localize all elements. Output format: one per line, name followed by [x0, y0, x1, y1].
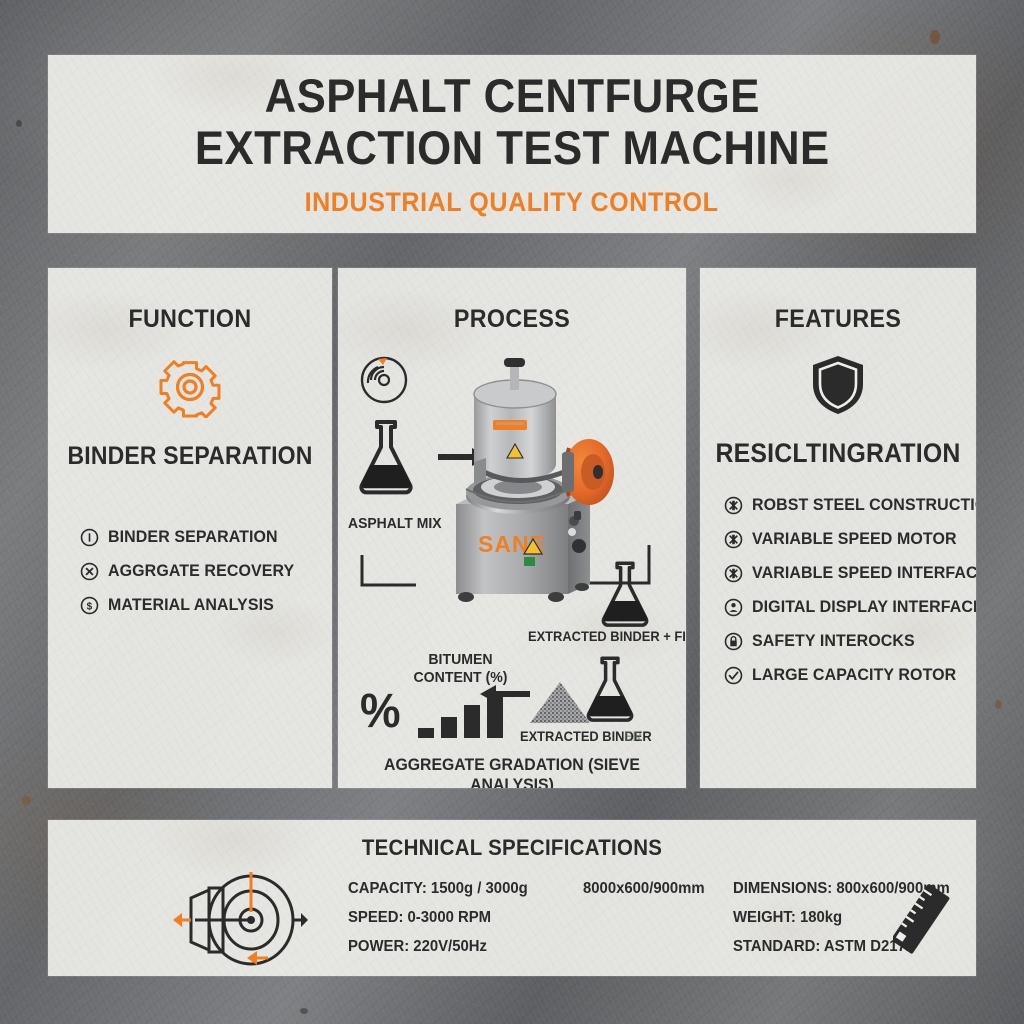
circle-x-icon	[80, 562, 99, 581]
circle-gauge-icon	[724, 598, 743, 617]
list-item[interactable]: BINDER SEPARATION	[80, 527, 332, 547]
list-item[interactable]: VARIABLE SPEED MOTOR	[724, 529, 976, 549]
bg-speck	[22, 796, 31, 805]
list-item[interactable]: VARIABLE SPEED INTERFACE	[724, 563, 976, 583]
spec-speed: SPEED: 0-3000 RPM	[348, 903, 528, 932]
circle-bolt-icon	[724, 496, 743, 515]
function-panel: FUNCTION BINDER SEPARATION BINDER SEPARA…	[48, 268, 332, 788]
shield-icon-wrap	[700, 354, 976, 416]
features-subheading: RESICLTINGRATION	[711, 438, 965, 469]
centrifuge-spin-icon	[356, 350, 412, 406]
rotor-diagram-icon	[173, 868, 308, 973]
aggregate-pile-icon	[528, 680, 592, 726]
chart-bar	[418, 728, 434, 738]
chart-heading-line2: CONTENT (%)	[414, 669, 508, 686]
chart-heading-line1: BITUMEN	[428, 651, 492, 668]
extracted-bitumen-ghost-text: ER	[624, 728, 642, 744]
list-item[interactable]: AGGRGATE RECOVERY	[80, 561, 332, 581]
list-item-label: DIGITAL DISPLAY INTERFACE	[752, 597, 976, 617]
technical-specifications-panel: TECHNICAL SPECIFICATIONS CAPACITY:	[48, 820, 976, 976]
spec-title: TECHNICAL SPECIFICATIONS	[80, 835, 943, 861]
list-item-label: ROBST STEEL CONSTRUCTION	[752, 495, 976, 515]
list-item[interactable]: ROBST STEEL CONSTRUCTION	[724, 495, 976, 515]
list-item-label: AGGRGATE RECOVERY	[108, 561, 294, 581]
circle-check-icon	[724, 666, 743, 685]
circle-bolt-icon	[724, 564, 743, 583]
page-title-line2: EXTRACTION TEST MACHINE	[195, 122, 830, 174]
gear-icon-wrap	[48, 356, 332, 418]
list-item-label: LARGE CAPACITY ROTOR	[752, 665, 956, 685]
process-heading: PROCESS	[350, 305, 674, 334]
extracted-bitumen-label: EXTRACTED BINDERER	[520, 728, 642, 744]
chart-bar	[464, 705, 480, 738]
circle-lock-icon	[724, 632, 743, 651]
list-item-label: VARIABLE SPEED INTERFACE	[752, 563, 976, 583]
list-item[interactable]: DIGITAL DISPLAY INTERFACE	[724, 597, 976, 617]
spec-column-1: CAPACITY: 1500g / 3000g SPEED: 0-3000 RP…	[348, 874, 541, 961]
ruler-icon	[893, 884, 951, 956]
svg-text:$: $	[87, 601, 93, 612]
aggregate-gradation-label: AGGREGATE GRADATION (SIEVE ANALYSIS)	[350, 755, 674, 788]
circle-info-icon	[80, 528, 99, 547]
function-item-list: BINDER SEPARATION AGGRGATE RECOVERY $ MA…	[80, 527, 332, 615]
process-panel: PROCESS ASPHALT MIX	[338, 268, 686, 788]
header-panel: ASPHALT CENTFURGE EXTRACTION TEST MACHIN…	[48, 55, 976, 233]
chart-bar	[441, 717, 457, 738]
list-item[interactable]: SAFETY INTEROCKS	[724, 631, 976, 651]
bg-speck	[300, 1008, 308, 1014]
function-subheading: BINDER SEPARATION	[59, 442, 320, 471]
circle-bolt-icon	[724, 530, 743, 549]
list-item-label: SAFETY INTEROCKS	[752, 631, 915, 651]
page-subtitle: INDUSTRIAL QUALITY CONTROL	[305, 187, 719, 218]
list-item-label: MATERIAL ANALYSIS	[108, 595, 274, 615]
spec-power: POWER: 220V/50Hz	[348, 932, 528, 961]
spec-dimension-alt: 8000x600/900mm	[583, 874, 705, 903]
flask-icon	[593, 558, 657, 630]
page-title-line1: ASPHALT CENTFURGE	[264, 70, 759, 122]
function-heading: FUNCTION	[58, 305, 322, 334]
list-item[interactable]: $ MATERIAL ANALYSIS	[80, 595, 332, 615]
list-item-label: BINDER SEPARATION	[108, 527, 278, 547]
features-heading: FEATURES	[710, 305, 967, 334]
list-item-label: VARIABLE SPEED MOTOR	[752, 529, 957, 549]
asphalt-mix-label: ASPHALT MIX	[348, 515, 442, 532]
circle-dollar-icon: $	[80, 596, 99, 615]
features-item-list: ROBST STEEL CONSTRUCTION VARIABLE SPEED …	[724, 495, 976, 685]
bg-speck	[930, 30, 940, 44]
chart-bar	[487, 693, 503, 738]
gear-icon	[159, 356, 221, 418]
flask-icon	[350, 416, 422, 498]
bitumen-bar-chart	[418, 686, 503, 738]
bitumen-chart-heading: BITUMEN CONTENT (%)	[397, 651, 524, 687]
spec-column-2: 8000x600/900mm	[583, 874, 714, 903]
extracted-binder-filler-label: EXTRACTED BINDER + FILLER	[528, 628, 686, 644]
spec-capacity: CAPACITY: 1500g / 3000g	[348, 874, 528, 903]
shield-icon	[810, 354, 866, 416]
list-item[interactable]: LARGE CAPACITY ROTOR	[724, 665, 976, 685]
features-panel: FEATURES RESICLTINGRATION ROBST STEEL CO…	[700, 268, 976, 788]
bg-speck	[995, 700, 1002, 709]
bg-speck	[16, 120, 22, 127]
percent-symbol: %	[360, 688, 401, 736]
connector-elbow	[360, 553, 418, 589]
